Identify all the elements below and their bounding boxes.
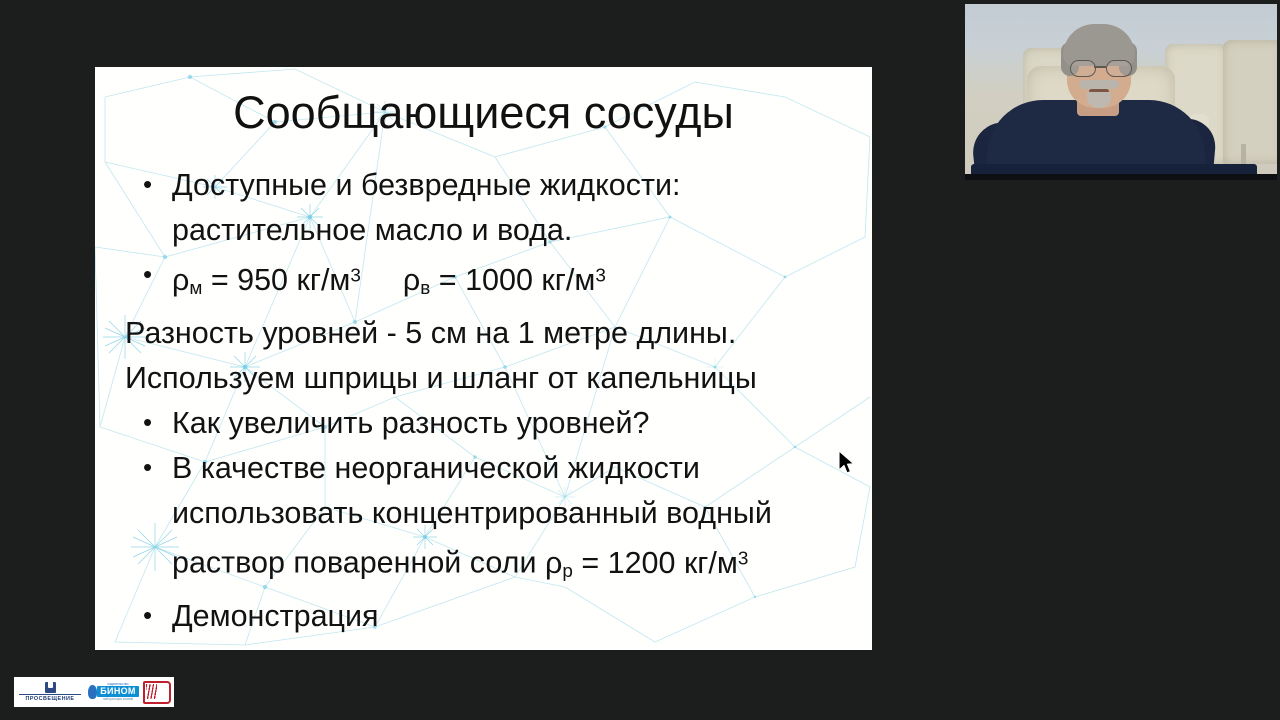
- rho-water-symbol: ρв: [403, 263, 430, 297]
- publisher-logo-bar: ПРОСВЕЩЕНИЕ издательство БИНОМ лаборатор…: [14, 677, 174, 707]
- rho-salt-symbol: ρр: [545, 546, 573, 580]
- speaker-lapel-right: [1121, 104, 1147, 138]
- binom-logo: издательство БИНОМ лаборатория знаний: [86, 677, 140, 707]
- bullet-line-question: Как увеличить разность уровней?: [117, 401, 869, 446]
- cube-exponent-1: 3: [350, 265, 361, 286]
- presentation-slide: Сообщающиеся сосуды Доступные и безвредн…: [95, 67, 872, 650]
- speaker-moustache: [1079, 80, 1119, 89]
- glasses-lens-left: [1070, 60, 1096, 77]
- desk-edge: [965, 174, 1277, 180]
- bullet-line-solution-cont1: использовать концентрированный водный: [117, 491, 869, 536]
- prosveshchenie-rule: [19, 694, 81, 695]
- salt-solution-formula-line: раствор поваренной соли ρр = 1200 кг/м3: [117, 536, 869, 594]
- glasses-bridge: [1094, 66, 1106, 68]
- binom-label: БИНОМ: [97, 686, 138, 697]
- rho-oil-symbol: ρм: [172, 263, 202, 297]
- prosveshchenie-mark-icon: [45, 682, 56, 693]
- rho-water-value: = 1000 кг/м3: [430, 263, 606, 297]
- webcam-video-frame: [965, 4, 1277, 180]
- rho-salt-value: = 1200 кг/м3: [573, 546, 749, 580]
- video-player-canvas: Сообщающиеся сосуды Доступные и безвредн…: [0, 0, 1280, 720]
- red-book-logo: [140, 677, 174, 707]
- prosveshchenie-logo: ПРОСВЕЩЕНИЕ: [14, 677, 86, 707]
- bullet-line-1: Доступные и безвредные жидкости:: [117, 163, 869, 208]
- binom-bird-icon: [88, 685, 97, 699]
- chair-right: [1223, 40, 1277, 164]
- slide-title: Сообщающиеся сосуды: [95, 87, 872, 139]
- density-formula-line: ρм = 950 кг/м3ρв = 1000 кг/м3: [117, 253, 869, 311]
- glasses-icon: [1069, 60, 1131, 76]
- level-difference-line: Разность уровней - 5 см на 1 метре длины…: [117, 311, 869, 356]
- bullet-line-demonstration: Демонстрация: [117, 594, 869, 639]
- equipment-line: Используем шприцы и шланг от капельницы: [117, 356, 869, 401]
- prosveshchenie-label: ПРОСВЕЩЕНИЕ: [26, 696, 75, 702]
- salt-solution-text: раствор поваренной соли: [172, 546, 545, 580]
- glasses-lens-right: [1106, 60, 1132, 77]
- speaker-webcam-panel[interactable]: [965, 4, 1277, 180]
- cube-exponent-2: 3: [595, 265, 606, 286]
- slide-body: Доступные и безвредные жидкости: растите…: [117, 163, 869, 639]
- red-book-mark-icon: [143, 681, 171, 704]
- rho-salt-subscript: р: [562, 561, 573, 582]
- bullet-line-solution: В качестве неорганической жидкости: [117, 446, 869, 491]
- binom-sub-label: лаборатория знаний: [103, 698, 133, 701]
- cube-exponent-3: 3: [738, 548, 749, 569]
- rho-oil-value: = 950 кг/м3: [202, 263, 361, 297]
- bullet-line-1-cont: растительное масло и вода.: [117, 208, 869, 253]
- rho-water-subscript: в: [420, 278, 430, 299]
- rho-oil-subscript: м: [189, 278, 202, 299]
